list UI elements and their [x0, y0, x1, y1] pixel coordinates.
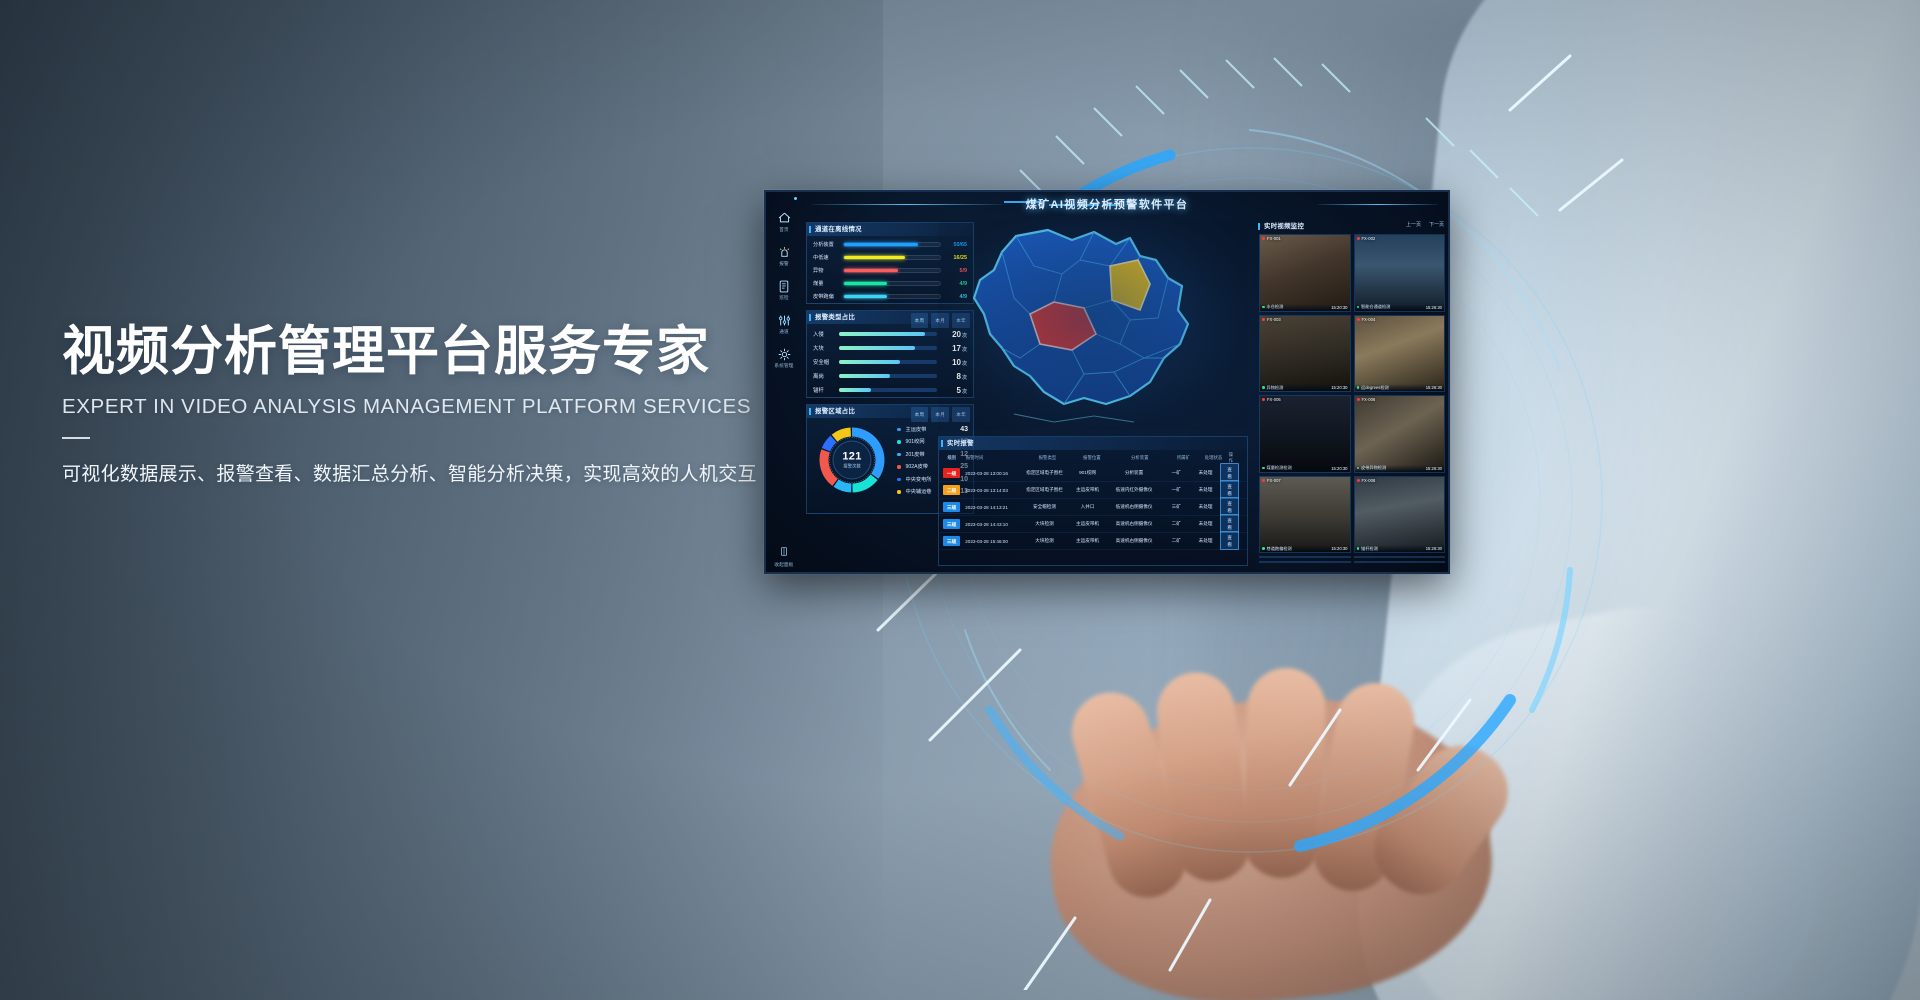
- camera-name: 人员检测: [1361, 556, 1378, 557]
- cell-type: 大块检测: [1020, 521, 1068, 527]
- video-footer: 中央变电所15:20:30: [1260, 556, 1350, 557]
- panel-title-text: 报警类型占比: [815, 314, 855, 321]
- table-row[interactable]: 三级2023-03-28 14:43:10大块检测主运皮带机高速机右侧摄像仪二矿…: [939, 516, 1247, 533]
- sidebar-item-system[interactable]: 系统管理: [767, 348, 801, 369]
- legend-color-dot: [897, 490, 901, 494]
- sidebar-item-label: 报警: [767, 261, 801, 267]
- status-badge: 三级: [943, 502, 960, 512]
- camera-id: FX-001: [1267, 236, 1281, 241]
- cell-mine: 三矿: [1162, 504, 1191, 510]
- page-title: 视频分析管理平台服务专家: [62, 322, 822, 381]
- home-icon: [767, 212, 801, 225]
- camera-name: 入侵检测: [1267, 561, 1284, 562]
- camera-id: FX-005: [1267, 397, 1281, 402]
- camera-id: FX-007: [1267, 478, 1281, 483]
- alarm-type-label: 锚杆: [813, 386, 839, 394]
- cell-time: 2023-03-28 15:46:00: [965, 539, 1020, 544]
- camera-name: 异物检测: [1267, 385, 1284, 391]
- cell-mine: 二矿: [1162, 521, 1191, 527]
- status-badge: 二级: [943, 485, 960, 495]
- camera-id: FX-004: [1362, 317, 1376, 322]
- sidebar-item-label: 通道: [767, 329, 801, 335]
- alarm-icon: [767, 246, 801, 259]
- header-line-right: [1318, 204, 1438, 205]
- cell-status: 未处理: [1191, 470, 1220, 476]
- cell-device: 低速内红外摄像仪: [1107, 487, 1162, 493]
- alarm-type-fill: [839, 360, 900, 364]
- channel-icon: [767, 314, 801, 327]
- th-status: 处理状态: [1198, 455, 1228, 461]
- alarm-type-track: [839, 346, 937, 350]
- channel-bar-label: 分析装置: [813, 241, 843, 248]
- camera-name-wrap: 运degrees检测: [1357, 385, 1389, 391]
- camera-tag: FX-006: [1357, 397, 1376, 402]
- video-cell[interactable]: FX-006皮带异物检测15:26:30: [1354, 395, 1446, 473]
- th-type: 报警类型: [1023, 455, 1073, 461]
- video-cell[interactable]: FX-009中央变电所15:20:30: [1259, 556, 1351, 558]
- camera-timestamp: 15:20:30: [1331, 546, 1347, 551]
- online-status-icon: [1357, 467, 1360, 470]
- alarm-type-fill: [839, 388, 871, 392]
- online-status-icon: [1357, 386, 1360, 389]
- video-cell[interactable]: FX-001水仓检测15:20:30: [1259, 234, 1351, 312]
- video-feed: [1355, 477, 1445, 553]
- video-feed: [1355, 316, 1445, 392]
- th-level: 级别: [943, 454, 961, 463]
- cell-device: 分析装置: [1107, 470, 1162, 476]
- camera-name-wrap: 巷道跑偏检测: [1262, 546, 1292, 552]
- th-time: 报警时间: [966, 455, 1023, 461]
- video-cell[interactable]: FX-008锚杆检测15:26:30: [1354, 476, 1446, 554]
- video-pagination: 上一页 下一页: [1406, 221, 1444, 228]
- camera-name-wrap: 水仓检测: [1262, 304, 1283, 310]
- cell-time: 2023-03-28 14:43:10: [965, 522, 1020, 527]
- map-background: [938, 220, 1248, 430]
- camera-timestamp: 15:26:30: [1426, 305, 1442, 310]
- video-cell[interactable]: FX-007巷道跑偏检测15:20:30: [1259, 476, 1351, 554]
- camera-tag: FX-008: [1357, 478, 1376, 483]
- legend-color-dot: [897, 465, 901, 469]
- cell-time: 2023-03-28 13:14:03: [965, 488, 1020, 493]
- camera-tag: FX-004: [1357, 317, 1376, 322]
- camera-name: 巷道检测: [1361, 561, 1378, 562]
- cell-time: 2023-03-28 14:13:21: [965, 505, 1020, 510]
- video-monitor-panel: 实时视频监控 上一页 下一页 FX-001水仓检测15:20:30FX-002智…: [1256, 220, 1448, 566]
- dashboard-header: 煤矿AI视频分析预警软件平台: [766, 192, 1448, 218]
- cell-type: 指定区域电子围栏: [1020, 487, 1068, 493]
- cell-mine: 一矿: [1162, 470, 1191, 476]
- channel-bar-label: 皮带跑偏: [813, 293, 843, 300]
- legend-color-dot: [897, 440, 901, 444]
- video-footer: 智能仓通道检测15:26:30: [1355, 304, 1445, 311]
- channel-bar-track: [843, 281, 941, 286]
- cell-mine: 二矿: [1162, 538, 1191, 544]
- alarm-type-fill: [839, 332, 925, 336]
- camera-timestamp: 15:20:30: [1331, 466, 1347, 471]
- sidebar-item-label: 系统管理: [767, 363, 801, 369]
- video-cell[interactable]: FX-010人员检测15:26:30: [1354, 556, 1446, 558]
- recording-indicator-icon: [1262, 318, 1265, 321]
- legend-color-dot: [897, 478, 901, 482]
- cell-location: 901绞网: [1069, 470, 1107, 476]
- divider: [62, 437, 90, 439]
- cell-device: 高速机右侧摄像仪: [1107, 521, 1162, 527]
- inspection-icon: [767, 280, 801, 293]
- donut-segment[interactable]: [836, 483, 851, 488]
- video-cell[interactable]: FX-002智能仓通道检测15:26:30: [1354, 234, 1446, 312]
- cell-location: 入井口: [1069, 504, 1107, 510]
- camera-name: 煤量检测检测: [1267, 465, 1292, 471]
- cell-status: 未处理: [1191, 504, 1220, 510]
- alarm-type-fill: [839, 346, 915, 350]
- camera-name: 智能仓通道检测: [1361, 304, 1390, 310]
- view-button[interactable]: 查看: [1220, 531, 1239, 550]
- legend-color-dot: [897, 453, 901, 457]
- recording-indicator-icon: [1262, 237, 1265, 240]
- sidebar-item-home[interactable]: 首页: [767, 212, 801, 233]
- alarm-type-track: [839, 332, 937, 336]
- channel-bar-fill: [844, 243, 918, 246]
- camera-name: 锚杆检测: [1361, 546, 1378, 552]
- camera-name: 运degrees检测: [1361, 385, 1389, 391]
- donut-center-label: 121 报警次数: [842, 451, 861, 470]
- cell-device: 高速机右侧摄像仪: [1107, 538, 1162, 544]
- video-footer: 巷道检测15:26:30: [1355, 561, 1445, 562]
- recording-indicator-icon: [1357, 479, 1360, 482]
- sidebar: 首页 报警 巡检 通道 系统管理: [766, 204, 802, 574]
- camera-name: 水仓检测: [1267, 304, 1284, 310]
- hero-subtitle: EXPERT IN VIDEO ANALYSIS MANAGEMENT PLAT…: [62, 395, 822, 419]
- realtime-alarm-panel: 实时报警 级别 报警时间 报警类型 报警位置 分析装置 所属矿 处理状态 操作 …: [938, 436, 1248, 566]
- status-badge: 一级: [943, 468, 960, 478]
- alarm-type-track: [839, 374, 937, 378]
- channel-bar-track: [843, 242, 941, 247]
- camera-id: FX-002: [1362, 236, 1376, 241]
- panel-title-text: 报警区域占比: [815, 408, 855, 415]
- cell-location: 主运皮带机: [1069, 521, 1107, 527]
- channel-bar-track: [843, 268, 941, 273]
- cell-type: 指定区域电子围栏: [1020, 470, 1068, 476]
- camera-tag: FX-007: [1262, 478, 1281, 483]
- cell-action: 查看: [1220, 531, 1243, 551]
- camera-timestamp: 15:20:30: [1331, 385, 1347, 390]
- alarm-type-fill: [839, 374, 890, 378]
- cell-mine: 一矿: [1162, 487, 1191, 493]
- cell-type: 安全帽检测: [1020, 504, 1068, 510]
- video-footer: 入侵检测15:20:30: [1260, 561, 1350, 562]
- donut-total-value: 121: [842, 451, 861, 463]
- cell-status: 未处理: [1191, 487, 1220, 493]
- recording-indicator-icon: [1357, 237, 1360, 240]
- video-feed: [1260, 235, 1350, 311]
- video-grid: FX-001水仓检测15:20:30FX-002智能仓通道检测15:26:30F…: [1259, 234, 1445, 563]
- cell-type: 大块检测: [1020, 538, 1068, 544]
- camera-id: FX-003: [1267, 317, 1281, 322]
- recording-indicator-icon: [1357, 398, 1360, 401]
- channel-bar-label: 中低速: [813, 254, 843, 261]
- th-mine: 所属矿: [1168, 455, 1198, 461]
- alarm-type-track: [839, 388, 937, 392]
- sidebar-item-inspection[interactable]: 巡检: [767, 280, 801, 301]
- donut-segment[interactable]: [835, 432, 851, 438]
- camera-name-wrap: 异物检测: [1262, 385, 1283, 391]
- video-footer: 锚杆检测15:26:30: [1355, 545, 1445, 552]
- video-footer: 巷道跑偏检测15:20:30: [1260, 545, 1350, 552]
- video-feed: [1260, 316, 1350, 392]
- channel-bar-fill: [844, 256, 905, 259]
- camera-name-wrap: 中央变电所: [1262, 556, 1287, 557]
- header-line-left: [812, 204, 1002, 205]
- camera-name-wrap: 煤量检测检测: [1262, 465, 1292, 471]
- channel-bar-fill: [844, 269, 898, 272]
- video-footer: 皮带异物检测15:26:30: [1355, 465, 1445, 472]
- th-device: 分析装置: [1111, 455, 1168, 461]
- camera-name-wrap: 皮带异物检测: [1357, 465, 1387, 471]
- online-status-icon: [1262, 467, 1265, 470]
- table-row[interactable]: 一级2023-03-28 13:00:16指定区域电子围栏901绞网分析装置一矿…: [939, 465, 1247, 482]
- camera-name-wrap: 锚杆检测: [1357, 546, 1378, 552]
- online-status-icon: [1262, 306, 1265, 309]
- sidebar-item-label: 巡检: [767, 295, 801, 301]
- video-footer: 异物检测15:20:30: [1260, 384, 1350, 391]
- donut-total-label: 报警次数: [842, 464, 861, 470]
- video-footer: 水仓检测15:20:30: [1260, 304, 1350, 311]
- camera-name: 巷道跑偏检测: [1267, 546, 1292, 552]
- table-row[interactable]: 三级2023-03-28 14:13:21安全帽检测入井口低速机右侧摄像仪三矿未…: [939, 499, 1247, 516]
- recording-indicator-icon: [1262, 398, 1265, 401]
- online-status-icon: [1262, 386, 1265, 389]
- video-footer: 人员检测15:26:30: [1355, 556, 1445, 557]
- camera-timestamp: 15:26:30: [1426, 546, 1442, 551]
- cell-time: 2023-03-28 13:00:16: [965, 471, 1020, 476]
- th-location: 报警位置: [1072, 455, 1111, 461]
- sidebar-item-alarm[interactable]: 报警: [767, 246, 801, 267]
- th-action: 操作: [1229, 452, 1243, 464]
- alarm-type-track: [839, 360, 937, 364]
- channel-bar-label: 异物: [813, 267, 843, 274]
- cell-location: 主运皮带机: [1069, 487, 1107, 493]
- video-cell[interactable]: FX-004运degrees检测15:26:30: [1354, 315, 1446, 393]
- video-cell[interactable]: FX-011入侵检测15:20:30: [1259, 561, 1351, 563]
- gear-icon: [767, 348, 801, 361]
- next-page-button[interactable]: 下一页: [1429, 221, 1444, 228]
- video-feed: [1260, 396, 1350, 472]
- alarm-type-label: 离岗: [813, 372, 839, 380]
- channel-bar-label: 煤量: [813, 280, 843, 287]
- online-status-icon: [1357, 547, 1360, 550]
- region-map-panel: [938, 220, 1248, 430]
- online-status-icon: [1262, 547, 1265, 550]
- camera-tag: FX-002: [1357, 236, 1376, 241]
- panel-title: 实时报警: [939, 437, 1247, 450]
- prev-page-button[interactable]: 上一页: [1406, 221, 1421, 228]
- video-feed: [1355, 396, 1445, 472]
- alarm-type-label: 入侵: [813, 330, 839, 338]
- collapse-icon: [766, 547, 802, 560]
- table-header-row: 级别 报警时间 报警类型 报警位置 分析装置 所属矿 处理状态 操作: [939, 452, 1247, 464]
- hero-description: 可视化数据展示、报警查看、数据汇总分析、智能分析决策，实现高效的人机交互: [62, 459, 822, 486]
- video-feed: [1355, 235, 1445, 311]
- video-cell[interactable]: FX-005煤量检测检测15:20:30: [1259, 395, 1351, 473]
- camera-timestamp: 15:20:30: [1331, 305, 1347, 310]
- cell-location: 主运皮带机: [1069, 538, 1107, 544]
- video-cell[interactable]: FX-012巷道检测15:26:30: [1354, 561, 1446, 563]
- sidebar-collapse-label: 收起面板: [766, 562, 802, 568]
- cell-device: 低速机右侧摄像仪: [1107, 504, 1162, 510]
- alarm-area-donut-chart: 121 报警次数: [813, 421, 891, 499]
- online-status-icon: [1357, 306, 1360, 309]
- camera-tag: FX-001: [1262, 236, 1281, 241]
- alarm-table-body: 一级2023-03-28 13:00:16指定区域电子围栏901绞网分析装置一矿…: [939, 465, 1247, 550]
- video-footer: 运degrees检测15:26:30: [1355, 384, 1445, 391]
- status-badge: 三级: [943, 536, 960, 546]
- alarm-table-header: 级别 报警时间 报警类型 报警位置 分析装置 所属矿 处理状态 操作: [939, 452, 1247, 464]
- hero-copy: 视频分析管理平台服务专家 EXPERT IN VIDEO ANALYSIS MA…: [62, 322, 822, 486]
- recording-indicator-icon: [1357, 318, 1360, 321]
- cell-status: 未处理: [1191, 521, 1220, 527]
- sidebar-item-channel[interactable]: 通道: [767, 314, 801, 335]
- status-badge: 三级: [943, 519, 960, 529]
- camera-name: 皮带异物检测: [1361, 465, 1386, 471]
- camera-name-wrap: 巷道检测: [1357, 561, 1378, 562]
- table-row[interactable]: 二级2023-03-28 13:14:03指定区域电子围栏主运皮带机低速内红外摄…: [939, 482, 1247, 499]
- camera-name-wrap: 人员检测: [1357, 556, 1378, 557]
- legend-color-dot: [897, 428, 901, 432]
- camera-id: FX-006: [1362, 397, 1376, 402]
- sidebar-item-label: 首页: [767, 227, 801, 233]
- camera-id: FX-008: [1362, 478, 1376, 483]
- video-panel-header: 实时视频监控 上一页 下一页: [1256, 220, 1448, 232]
- dashboard-title: 煤矿AI视频分析预警软件平台: [1026, 196, 1189, 212]
- video-footer: 煤量检测检测15:20:30: [1260, 465, 1350, 472]
- camera-timestamp: 15:26:30: [1426, 466, 1442, 471]
- channel-bar-fill: [844, 295, 887, 298]
- alarm-type-label: 大块: [813, 344, 839, 352]
- camera-name: 中央变电所: [1267, 556, 1288, 557]
- channel-bar-track: [843, 294, 941, 299]
- sidebar-collapse[interactable]: 收起面板: [766, 547, 802, 568]
- tab-week[interactable]: 本周: [911, 407, 929, 422]
- channel-bar-fill: [844, 282, 887, 285]
- camera-tag: FX-005: [1262, 397, 1281, 402]
- dashboard-screen: 煤矿AI视频分析预警软件平台 首页 报警 巡检 通道: [764, 190, 1450, 574]
- tab-week[interactable]: 本周: [911, 313, 929, 328]
- camera-tag: FX-003: [1262, 317, 1281, 322]
- header-node-dot: [794, 197, 797, 200]
- alarm-type-label: 安全帽: [813, 358, 839, 366]
- cell-status: 未处理: [1191, 538, 1220, 544]
- video-feed: [1260, 477, 1350, 553]
- channel-bar-track: [843, 255, 941, 260]
- donut-segment[interactable]: [826, 439, 834, 450]
- table-row[interactable]: 三级2023-03-28 15:46:00大块检测主运皮带机高速机右侧摄像仪二矿…: [939, 533, 1247, 550]
- camera-name-wrap: 智能仓通道检测: [1357, 304, 1391, 310]
- camera-name-wrap: 入侵检测: [1262, 561, 1283, 562]
- camera-timestamp: 15:26:30: [1426, 385, 1442, 390]
- recording-indicator-icon: [1262, 479, 1265, 482]
- video-cell[interactable]: FX-003异物检测15:20:30: [1259, 315, 1351, 393]
